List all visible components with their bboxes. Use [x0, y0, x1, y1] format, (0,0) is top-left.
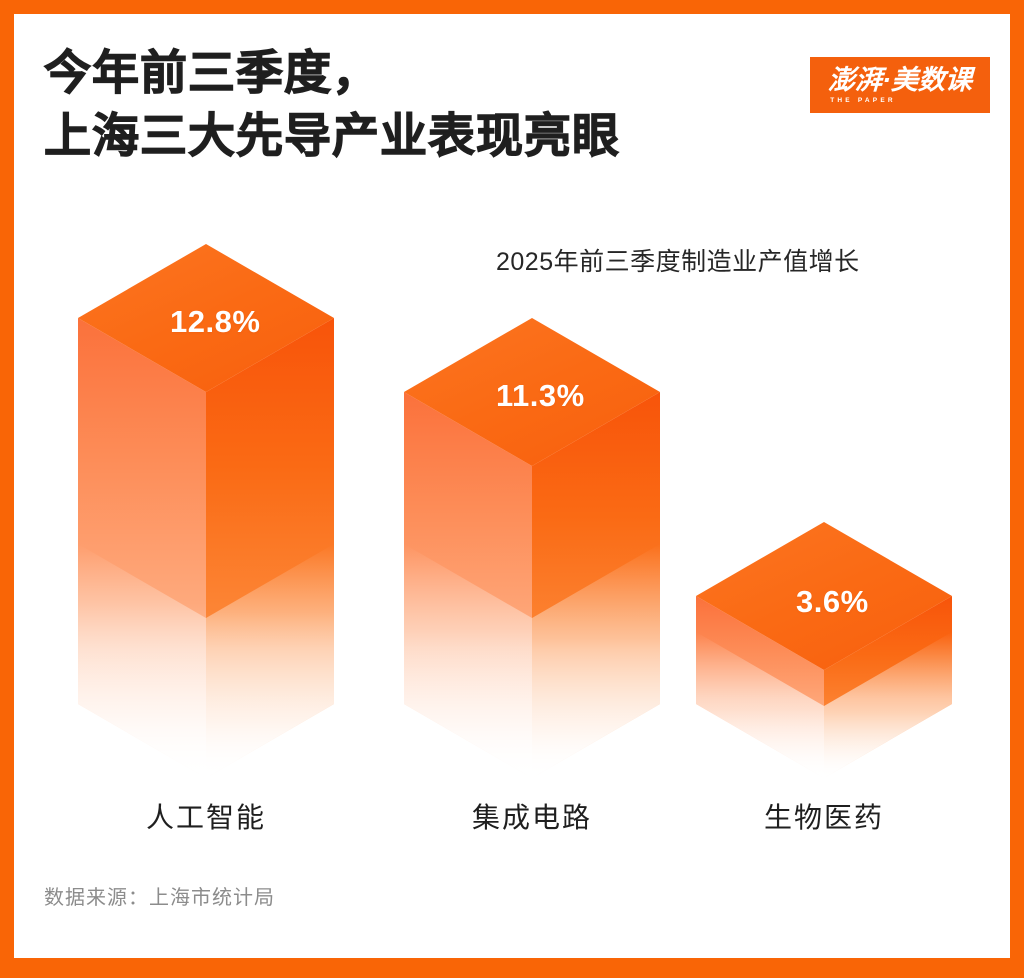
bar-value-label: 12.8% [170, 304, 260, 340]
page-title: 今年前三季度， 上海三大先导产业表现亮眼 [44, 42, 620, 167]
chart-subtitle: 2025年前三季度制造业产值增长 [496, 242, 860, 278]
bar-3d-shape [696, 522, 952, 778]
header: 今年前三季度， 上海三大先导产业表现亮眼 澎湃·美数课 THE PAPER [14, 14, 1010, 204]
bar-item[interactable]: 11.3% [404, 318, 660, 778]
logo-subtext: THE PAPER [830, 97, 896, 104]
bar-chart: 2025年前三季度制造业产值增长 [14, 204, 1010, 844]
source-note: 数据来源：上海市统计局 [44, 881, 275, 910]
infographic-canvas: 今年前三季度， 上海三大先导产业表现亮眼 澎湃·美数课 THE PAPER 20… [0, 0, 1024, 978]
bar-item[interactable]: 12.8% [78, 244, 334, 778]
bar-category-label: 集成电路 [404, 796, 660, 836]
bar-item[interactable]: 3.6% [696, 522, 952, 778]
bar-category-label: 生物医药 [696, 796, 952, 836]
bar-value-label: 3.6% [796, 584, 869, 620]
content-panel: 今年前三季度， 上海三大先导产业表现亮眼 澎湃·美数课 THE PAPER 20… [14, 14, 1010, 958]
logo-wordmark: 澎湃·美数课 [828, 67, 973, 94]
bar-category-label: 人工智能 [78, 796, 334, 836]
bar-value-label: 11.3% [496, 378, 585, 414]
publisher-logo: 澎湃·美数课 THE PAPER [810, 57, 990, 113]
